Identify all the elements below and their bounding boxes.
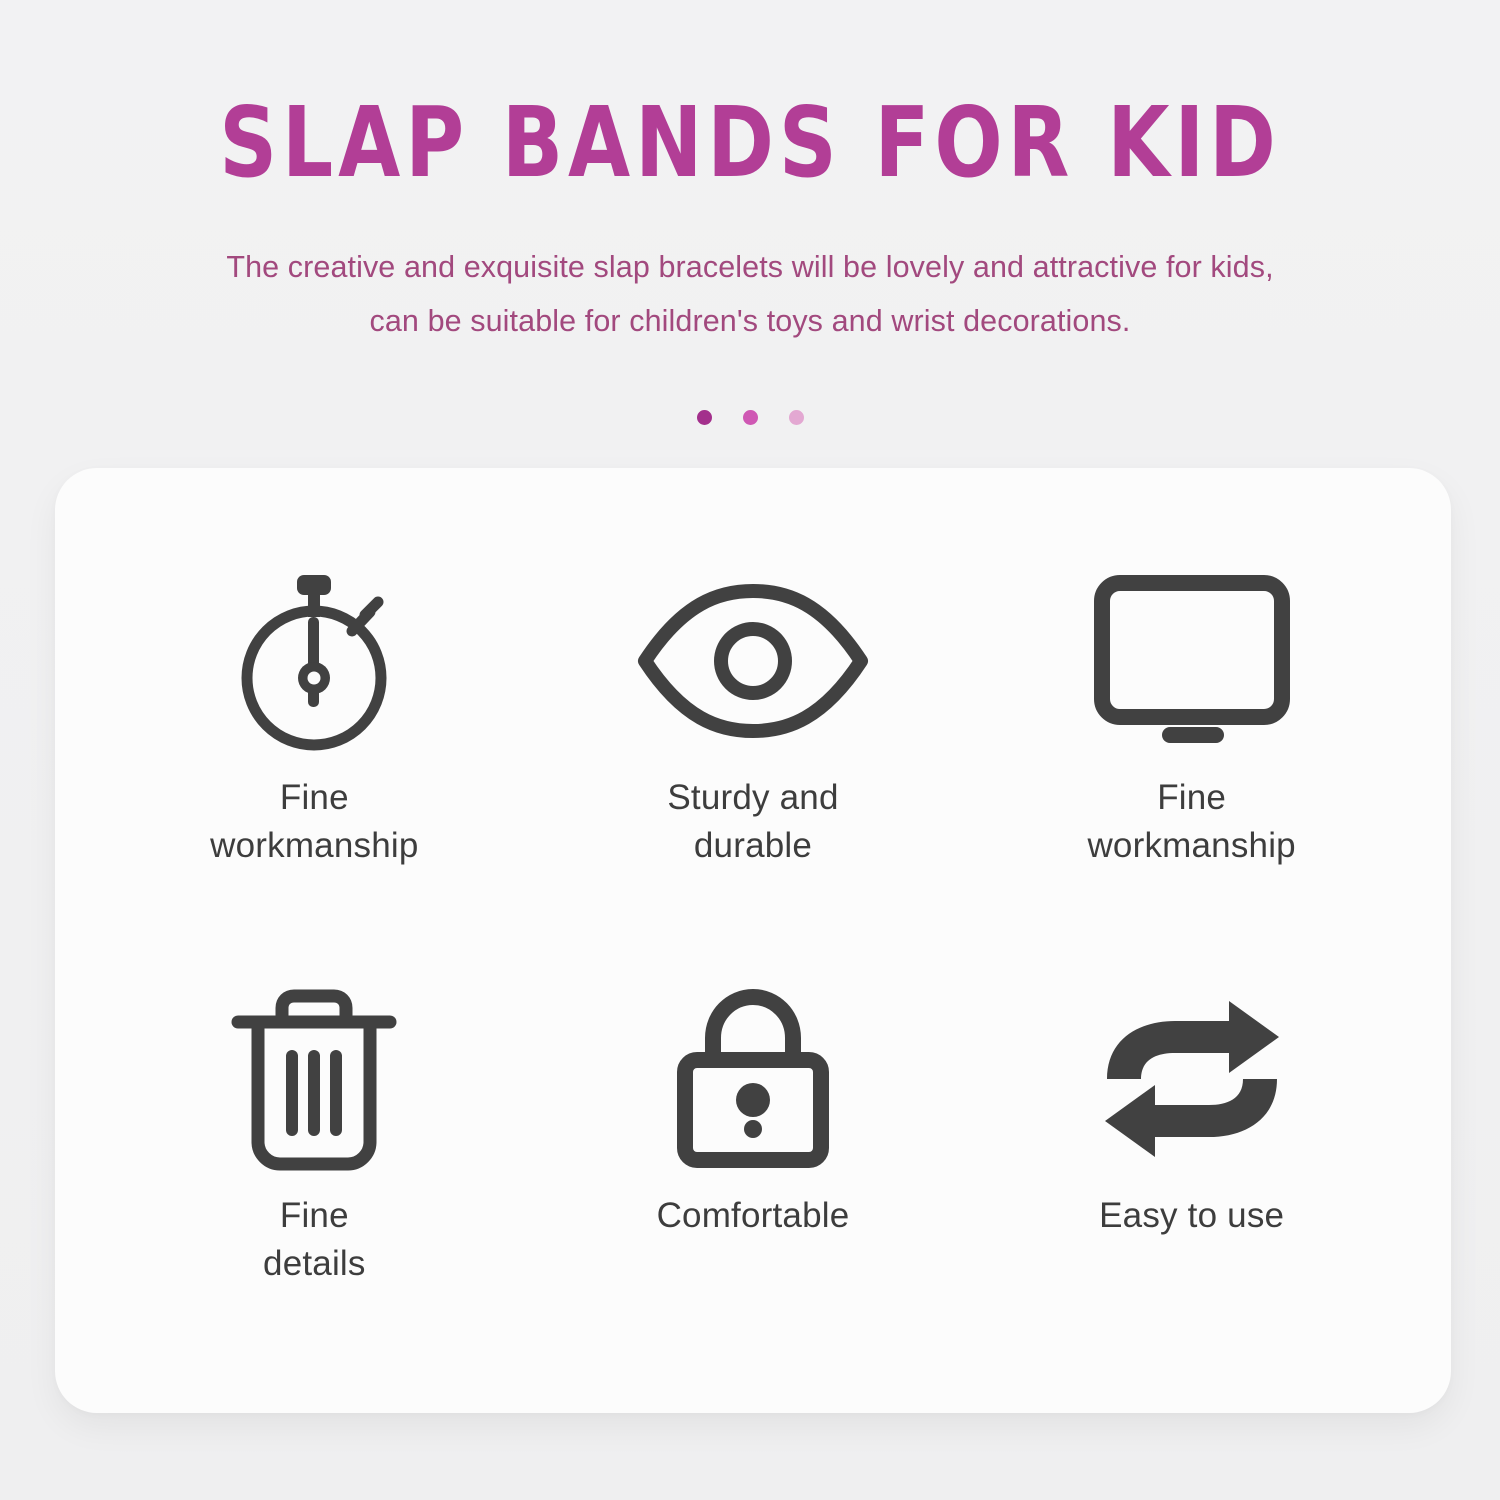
subtitle-line-1: The creative and exquisite slap bracelet…	[0, 240, 1500, 294]
feature-label-line-2: workmanship	[1087, 822, 1295, 870]
feature-item: Sturdy and durable	[534, 530, 973, 948]
carousel-dots	[0, 410, 1500, 425]
lock-icon	[671, 984, 835, 1174]
subtitle-line-2: can be suitable for children's toys and …	[0, 294, 1500, 348]
feature-label: Easy to use	[1099, 1192, 1284, 1240]
feature-label-line-1: Easy to use	[1099, 1192, 1284, 1240]
sync-arrows-icon	[1099, 984, 1285, 1174]
feature-label-line-1: Comfortable	[657, 1192, 850, 1240]
feature-item: Fine workmanship	[95, 530, 534, 948]
carousel-dot-1[interactable]	[697, 410, 712, 425]
feature-label-line-1: Fine	[263, 1192, 366, 1240]
page-title: SLAP BANDS FOR KID	[15, 96, 1485, 193]
page-subtitle: The creative and exquisite slap bracelet…	[0, 240, 1500, 348]
feature-item: Fine details	[95, 948, 534, 1366]
feature-label: Comfortable	[657, 1192, 850, 1240]
feature-item: Comfortable	[534, 948, 973, 1366]
feature-label-line-1: Fine	[210, 774, 418, 822]
feature-label-line-2: details	[263, 1240, 366, 1288]
feature-label-line-1: Fine	[1087, 774, 1295, 822]
trash-icon	[224, 984, 404, 1174]
monitor-icon	[1094, 566, 1290, 756]
carousel-dot-2[interactable]	[743, 410, 758, 425]
feature-label: Sturdy and durable	[667, 774, 838, 870]
product-feature-page: SLAP BANDS FOR KID The creative and exqu…	[0, 0, 1500, 1500]
feature-label-line-2: durable	[667, 822, 838, 870]
page-header: SLAP BANDS FOR KID The creative and exqu…	[0, 0, 1500, 425]
features-card: Fine workmanship Sturdy and durable	[55, 468, 1451, 1413]
stopwatch-icon	[224, 566, 404, 756]
feature-label: Fine workmanship	[1087, 774, 1295, 870]
feature-label: Fine workmanship	[210, 774, 418, 870]
eye-icon	[635, 566, 871, 756]
features-grid: Fine workmanship Sturdy and durable	[55, 468, 1451, 1413]
feature-label: Fine details	[263, 1192, 366, 1288]
feature-item: Easy to use	[972, 948, 1411, 1366]
carousel-dot-3[interactable]	[789, 410, 804, 425]
feature-label-line-1: Sturdy and	[667, 774, 838, 822]
feature-label-line-2: workmanship	[210, 822, 418, 870]
feature-item: Fine workmanship	[972, 530, 1411, 948]
